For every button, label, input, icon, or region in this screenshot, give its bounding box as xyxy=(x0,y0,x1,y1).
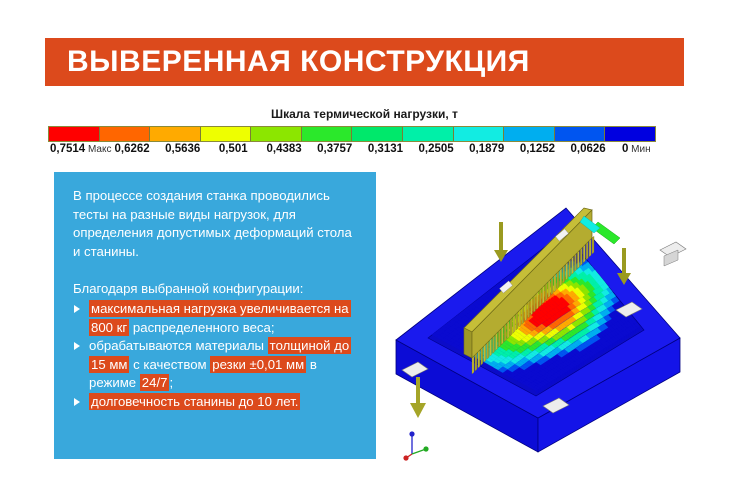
highlighted-text: резки ±0,01 мм xyxy=(210,356,306,373)
plain-text: распределенного веса; xyxy=(129,320,274,335)
fea-svg xyxy=(388,180,710,480)
scale-segment-6 xyxy=(352,127,403,141)
scale-tick-2: 0,5636 xyxy=(165,143,200,155)
scale-segment-9 xyxy=(504,127,555,141)
gantry-tooth xyxy=(563,265,565,283)
gantry-tooth xyxy=(498,330,500,348)
gantry-tooth xyxy=(475,353,477,371)
gantry-tooth xyxy=(589,239,591,257)
benefits-list: максимальная нагрузка увеличивается на 8… xyxy=(73,300,360,412)
gantry-tooth xyxy=(569,260,571,278)
scale-tick-value: 0,7514 xyxy=(50,143,85,155)
gantry-tooth xyxy=(504,324,506,342)
highlighted-text: 24/7 xyxy=(140,374,170,391)
triangle-bullet-icon xyxy=(74,398,80,406)
scale-tick-11: 0 Мин xyxy=(622,143,651,155)
gantry-tooth xyxy=(516,312,518,330)
gantry-tooth xyxy=(510,318,512,336)
gantry-tooth xyxy=(472,356,474,374)
gantry-tooth xyxy=(551,277,553,295)
gantry-tooth xyxy=(478,350,480,368)
scale-segment-11 xyxy=(605,127,655,141)
benefits-lead-in: Благодаря выбранной конфигурации: xyxy=(73,280,360,299)
scale-segment-0 xyxy=(49,127,100,141)
gantry-tooth xyxy=(566,263,568,281)
description-panel: В процессе создания станка проводились т… xyxy=(54,172,376,459)
scale-segment-8 xyxy=(454,127,505,141)
scale-tick-6: 0,3131 xyxy=(368,143,403,155)
plain-text: обрабатываются материалы xyxy=(89,338,268,353)
gantry-tooth xyxy=(536,292,538,310)
scale-tick-labels: 0,7514 Макс0,62620,56360,5010,43830,3757… xyxy=(40,143,700,161)
gantry-tooth xyxy=(586,242,588,260)
list-item: обрабатываются материалы толщиной до 15 … xyxy=(73,337,360,393)
gantry-tooth xyxy=(533,295,535,313)
page-title: ВЫВЕРЕННАЯ КОНСТРУКЦИЯ xyxy=(45,45,530,79)
gantry-tooth xyxy=(513,315,515,333)
plain-text: ; xyxy=(169,375,173,390)
gantry-tooth xyxy=(531,298,533,316)
fea-thermal-load-visualization xyxy=(388,180,710,480)
list-item: максимальная нагрузка увеличивается на 8… xyxy=(73,300,360,337)
gantry-tooth xyxy=(574,254,576,272)
scale-tick-value: 0,6262 xyxy=(115,143,150,155)
scale-segment-7 xyxy=(403,127,454,141)
scale-tick-value: 0,1879 xyxy=(469,143,504,155)
gantry-tooth xyxy=(525,304,527,322)
scale-tick-suffix: Макс xyxy=(85,144,111,155)
highlighted-text: долговечность станины до 10 лет. xyxy=(89,393,300,410)
gantry-tooth xyxy=(487,342,489,360)
gantry-tooth xyxy=(592,236,594,254)
slide-title-bar: ВЫВЕРЕННАЯ КОНСТРУКЦИЯ xyxy=(45,38,684,86)
scale-tick-value: 0,5636 xyxy=(165,143,200,155)
scale-segment-10 xyxy=(555,127,606,141)
gantry-tooth xyxy=(572,257,574,275)
slide-root: ВЫВЕРЕННАЯ КОНСТРУКЦИЯ Шкала термической… xyxy=(0,0,730,500)
scale-tick-4: 0,4383 xyxy=(267,143,302,155)
scale-segment-5 xyxy=(302,127,353,141)
gantry-tooth xyxy=(501,327,503,345)
axis-triad-icon xyxy=(403,431,428,460)
scale-tick-suffix: Мин xyxy=(628,144,650,155)
scale-segment-1 xyxy=(100,127,151,141)
gantry-tooth xyxy=(481,347,483,365)
scale-tick-value: 0,3131 xyxy=(368,143,403,155)
gantry-tooth xyxy=(554,274,556,292)
gantry-tooth xyxy=(583,245,585,263)
scale-tick-value: 0,4383 xyxy=(267,143,302,155)
scale-tick-value: 0,2505 xyxy=(419,143,454,155)
intro-paragraph: В процессе создания станка проводились т… xyxy=(73,187,360,261)
scale-tick-3: 0,501 xyxy=(219,143,248,155)
gantry-tooth xyxy=(492,336,494,354)
gantry-tooth xyxy=(528,301,530,319)
gantry-tooth xyxy=(560,268,562,286)
scale-title: Шкала термической нагрузки, т xyxy=(45,107,684,121)
scale-tick-9: 0,1252 xyxy=(520,143,555,155)
gantry-tooth xyxy=(519,309,521,327)
scale-tick-value: 0,3757 xyxy=(317,143,352,155)
gantry-tooth xyxy=(557,271,559,289)
gantry-tooth xyxy=(507,321,509,339)
gantry-tooth xyxy=(542,286,544,304)
scale-tick-value: 0,1252 xyxy=(520,143,555,155)
gantry-tooth xyxy=(539,289,541,307)
plain-text: с качеством xyxy=(129,357,210,372)
list-item: долговечность станины до 10 лет. xyxy=(73,393,360,412)
scale-tick-1: 0,6262 xyxy=(115,143,150,155)
scale-tick-5: 0,3757 xyxy=(317,143,352,155)
gantry-tooth xyxy=(545,283,547,301)
triangle-bullet-icon xyxy=(74,305,80,313)
scale-tick-10: 0,0626 xyxy=(571,143,606,155)
scale-segment-4 xyxy=(251,127,302,141)
gantry-tooth xyxy=(522,306,524,324)
thermal-load-color-scale xyxy=(48,126,656,142)
gantry-tooth xyxy=(490,339,492,357)
scale-tick-0: 0,7514 Макс xyxy=(50,143,111,155)
gantry-tooth xyxy=(484,344,486,362)
scale-tick-value: 0,0626 xyxy=(571,143,606,155)
gantry-tooth xyxy=(495,333,497,351)
scale-segment-3 xyxy=(201,127,252,141)
scale-tick-8: 0,1879 xyxy=(469,143,504,155)
triangle-bullet-icon xyxy=(74,342,80,350)
scale-segment-2 xyxy=(150,127,201,141)
scale-tick-value: 0,501 xyxy=(219,143,248,155)
gantry-tooth xyxy=(548,280,550,298)
gantry-tooth xyxy=(577,251,579,269)
gantry-tooth xyxy=(580,248,582,266)
scale-tick-7: 0,2505 xyxy=(419,143,454,155)
